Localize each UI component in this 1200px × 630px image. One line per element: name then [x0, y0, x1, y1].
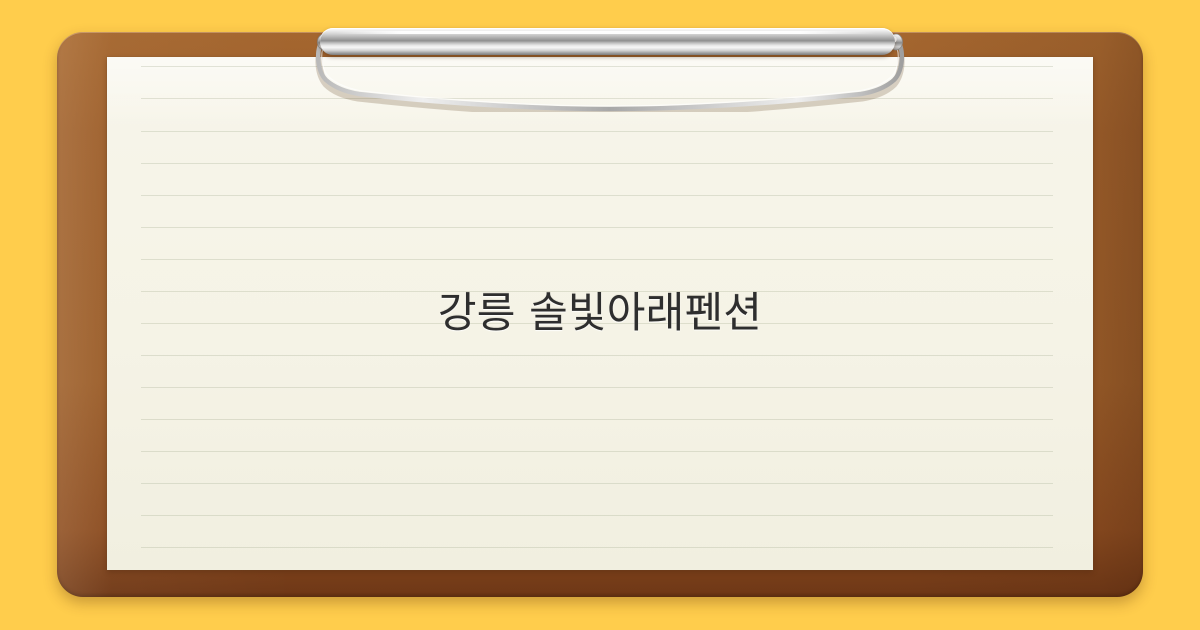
note-paper — [107, 57, 1093, 570]
screenshot-canvas: 강릉 솔빛아래펜션 — [0, 0, 1200, 630]
clip-bar-highlight — [336, 31, 876, 34]
binder-clip-icon — [310, 22, 910, 112]
paper-ruled-lines — [141, 57, 1053, 570]
